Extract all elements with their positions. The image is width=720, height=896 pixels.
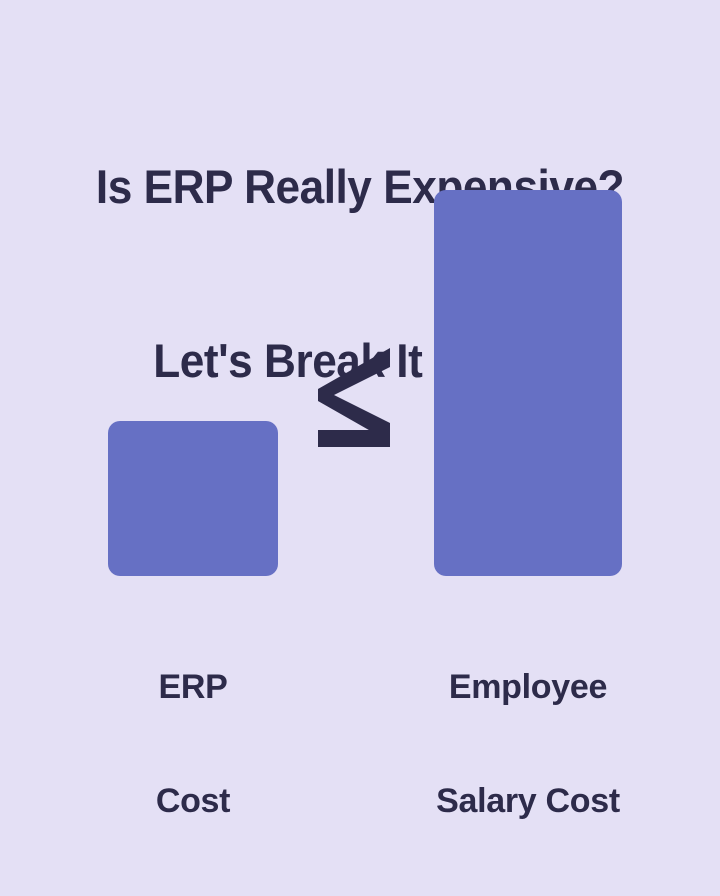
bar-label-employee-salary-cost-line-2: Salary Cost bbox=[408, 782, 648, 820]
bar-chart: ERP Cost Employee Salary Cost bbox=[0, 0, 720, 720]
less-than-or-equal-icon bbox=[316, 345, 394, 447]
bar-employee-salary-cost bbox=[434, 190, 622, 576]
bar-label-erp-cost-line-2: Cost bbox=[73, 782, 313, 820]
bar-label-employee-salary-cost: Employee Salary Cost bbox=[408, 592, 648, 896]
bar-erp-cost bbox=[108, 421, 278, 576]
bar-label-employee-salary-cost-line-1: Employee bbox=[408, 668, 648, 706]
bar-label-erp-cost-line-1: ERP bbox=[73, 668, 313, 706]
infographic-canvas: Is ERP Really Expensive? Let's Break It … bbox=[0, 0, 720, 720]
bar-label-erp-cost: ERP Cost bbox=[73, 592, 313, 896]
